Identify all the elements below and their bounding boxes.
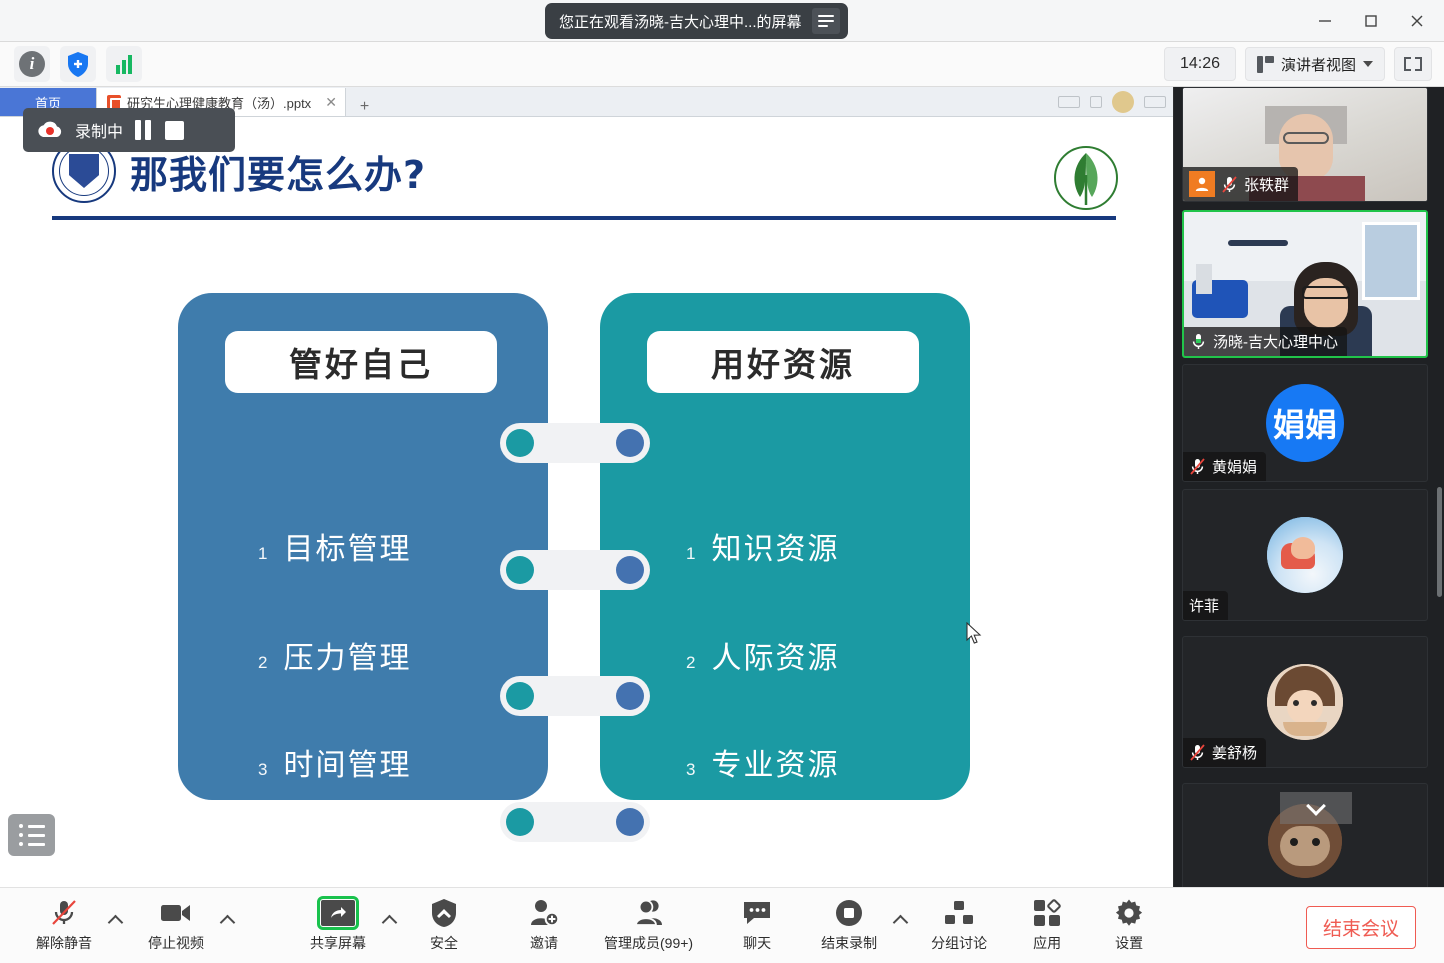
list-item: 3 专业资源 <box>686 740 839 784</box>
breakout-rooms-button[interactable]: 分组讨论 <box>921 888 997 963</box>
camera-icon <box>160 898 192 928</box>
shield-plus-icon[interactable] <box>60 46 96 82</box>
view-mode-label: 演讲者视图 <box>1281 54 1356 75</box>
diagram-connector <box>500 676 650 716</box>
list-item-label: 知识资源 <box>711 524 839 568</box>
mic-options-arrow[interactable] <box>102 888 128 963</box>
notes-list-icon[interactable] <box>8 814 55 856</box>
participant-name-badge: 黄娟娟 <box>1183 452 1266 481</box>
speaker-view-icon <box>1257 56 1274 73</box>
participant-tile[interactable]: 许菲 <box>1182 489 1428 621</box>
security-shield-icon <box>430 898 458 928</box>
video-options-arrow[interactable] <box>214 888 240 963</box>
mute-button[interactable]: 解除静音 <box>26 888 102 963</box>
video-button[interactable]: 停止视频 <box>138 888 214 963</box>
participant-tile[interactable]: 娟娟 黄娟娟 <box>1182 364 1428 482</box>
ppt-toolbar-icon-b[interactable] <box>1090 96 1102 108</box>
avatar <box>1267 517 1343 593</box>
clock: 14:26 <box>1164 47 1236 81</box>
list-item-label: 专业资源 <box>711 740 839 784</box>
recording-label: 录制中 <box>75 118 123 142</box>
gear-icon <box>1114 898 1144 928</box>
new-tab-button[interactable]: + <box>360 98 369 116</box>
participants-icon <box>634 898 664 928</box>
hamburger-icon[interactable] <box>812 8 840 34</box>
ppt-minimize-icon[interactable] <box>1144 96 1166 108</box>
participant-video-strip: 张轶群 <box>1174 87 1444 887</box>
avatar <box>1267 664 1343 740</box>
list-item-label: 人际资源 <box>711 633 839 677</box>
scrollbar-thumb[interactable] <box>1437 487 1442 597</box>
window-controls <box>1302 0 1440 42</box>
maximize-button[interactable] <box>1348 0 1394 42</box>
share-screen-label: 共享屏幕 <box>310 933 366 953</box>
avatar[interactable] <box>1112 91 1134 113</box>
participants-button[interactable]: 管理成员(99+) <box>594 888 703 963</box>
chat-button[interactable]: 聊天 <box>729 888 785 963</box>
participant-name: 许菲 <box>1189 595 1219 616</box>
participant-tile[interactable]: 汤晓-吉大心理中心 <box>1182 210 1428 358</box>
diagram-panel-right-heading: 用好资源 <box>647 331 919 393</box>
panel-left-heading-label: 管好自己 <box>289 338 433 386</box>
mic-muted-icon <box>1189 743 1206 762</box>
apps-icon <box>1033 898 1061 928</box>
apps-button[interactable]: 应用 <box>1019 888 1075 963</box>
host-icon <box>1189 171 1215 197</box>
stop-icon[interactable] <box>165 121 184 140</box>
presentation-slide: 那我们要怎么办? 管好自己 用好资源 <box>0 117 1174 887</box>
list-item-number: 3 <box>686 760 695 780</box>
participant-name-badge: 姜舒杨 <box>1183 738 1266 767</box>
meeting-info-bar: i 14:26 演讲者视图 <box>0 42 1444 87</box>
end-meeting-button[interactable]: 结束会议 <box>1306 906 1416 949</box>
list-item-label: 压力管理 <box>283 633 411 677</box>
list-item-number: 1 <box>686 544 695 564</box>
participant-name: 张轶群 <box>1244 174 1289 195</box>
share-options-arrow[interactable] <box>376 888 402 963</box>
shared-screen-area: 首页 研究生心理健康教育（汤）.pptx ✕ + 录制中 <box>0 87 1174 887</box>
participant-tile[interactable] <box>1182 783 1428 887</box>
two-panel-diagram: 管好自己 用好资源 1 目标管理 2 压力管理 <box>178 293 972 800</box>
participant-tile[interactable]: 张轶群 <box>1182 87 1428 202</box>
avatar-initials: 娟娟 <box>1273 400 1337 446</box>
network-bars-icon[interactable] <box>106 46 142 82</box>
mic-muted-icon <box>1221 175 1238 194</box>
participant-name: 黄娟娟 <box>1212 456 1257 477</box>
chevron-down-icon <box>1363 61 1373 67</box>
video-button-label: 停止视频 <box>148 933 204 953</box>
participant-name-badge: 许菲 <box>1183 591 1228 620</box>
invite-label: 邀请 <box>530 933 558 953</box>
diagram-connector <box>500 423 650 463</box>
scroll-down-indicator[interactable] <box>1280 792 1352 824</box>
recording-indicator: 录制中 <box>23 108 235 152</box>
view-mode-selector[interactable]: 演讲者视图 <box>1245 47 1385 81</box>
ppt-window-controls <box>1058 91 1166 113</box>
participant-name-badge: 张轶群 <box>1183 167 1298 201</box>
mic-icon <box>1190 332 1207 351</box>
list-item: 2 压力管理 <box>258 633 411 677</box>
stop-record-icon <box>834 898 864 928</box>
security-label: 安全 <box>430 933 458 953</box>
stop-recording-label: 结束录制 <box>821 933 877 953</box>
cloud-record-icon <box>37 121 63 139</box>
participants-label: 管理成员(99+) <box>604 933 693 953</box>
list-item-number: 2 <box>258 653 267 673</box>
settings-button[interactable]: 设置 <box>1101 888 1157 963</box>
chat-bubble-icon <box>742 898 772 928</box>
list-item-number: 3 <box>258 760 267 780</box>
mic-muted-icon <box>49 898 79 928</box>
list-item: 2 人际资源 <box>686 633 839 677</box>
participant-name: 姜舒杨 <box>1212 742 1257 763</box>
invite-person-icon <box>529 898 559 928</box>
meeting-status-icons: i <box>14 46 142 82</box>
diagram-gap-column <box>548 293 600 800</box>
breakout-rooms-icon <box>944 898 974 928</box>
chat-label: 聊天 <box>743 933 771 953</box>
list-item-label: 时间管理 <box>283 740 411 784</box>
diagram-panel-left-heading: 管好自己 <box>225 331 497 393</box>
meeting-view-controls: 14:26 演讲者视图 <box>1164 47 1432 81</box>
title-divider <box>52 216 1116 220</box>
share-screen-icon <box>321 898 355 928</box>
watching-screen-banner[interactable]: 您正在观看汤晓-吉大心理中...的屏幕 <box>545 3 848 39</box>
diagram-connector <box>500 550 650 590</box>
security-button[interactable]: 安全 <box>416 888 472 963</box>
list-item: 1 知识资源 <box>686 524 839 568</box>
pause-icon[interactable] <box>135 120 153 140</box>
mute-button-label: 解除静音 <box>36 933 92 953</box>
list-item: 1 目标管理 <box>258 524 411 568</box>
meeting-toolbar: 解除静音 停止视频 共享屏幕 <box>0 887 1444 963</box>
mic-muted-icon <box>1189 457 1206 476</box>
diagram-connector <box>500 802 650 842</box>
list-item-number: 2 <box>686 653 695 673</box>
participant-name-badge: 汤晓-吉大心理中心 <box>1184 327 1347 356</box>
apps-label: 应用 <box>1033 933 1061 953</box>
psych-center-leaf-logo-icon <box>1053 145 1119 211</box>
title-bar: 您正在观看汤晓-吉大心理中...的屏幕 <box>0 0 1444 42</box>
participant-name: 汤晓-吉大心理中心 <box>1213 331 1338 352</box>
info-icon[interactable]: i <box>14 46 50 82</box>
mouse-cursor <box>966 622 982 646</box>
invite-button[interactable]: 邀请 <box>516 888 572 963</box>
powerpoint-icon <box>107 95 121 109</box>
close-icon[interactable]: ✕ <box>325 94 337 111</box>
avatar: 娟娟 <box>1266 384 1344 462</box>
list-item: 3 时间管理 <box>258 740 411 784</box>
watching-screen-label: 您正在观看汤晓-吉大心理中...的屏幕 <box>559 11 802 32</box>
close-button[interactable] <box>1394 0 1440 42</box>
panel-right-heading-label: 用好资源 <box>711 338 855 386</box>
participant-tile[interactable]: 姜舒杨 <box>1182 636 1428 768</box>
breakout-rooms-label: 分组讨论 <box>931 933 987 953</box>
list-item-number: 1 <box>258 544 267 564</box>
stop-recording-button[interactable]: 结束录制 <box>811 888 887 963</box>
ppt-toolbar-icon-a[interactable] <box>1058 96 1080 108</box>
minimize-button[interactable] <box>1302 0 1348 42</box>
fullscreen-icon[interactable] <box>1394 47 1432 81</box>
share-screen-button[interactable]: 共享屏幕 <box>300 888 376 963</box>
recording-options-arrow[interactable] <box>887 888 913 963</box>
list-item-label: 目标管理 <box>283 524 411 568</box>
settings-label: 设置 <box>1115 933 1143 953</box>
zoom-meeting-window: 您正在观看汤晓-吉大心理中...的屏幕 i <box>0 0 1444 963</box>
